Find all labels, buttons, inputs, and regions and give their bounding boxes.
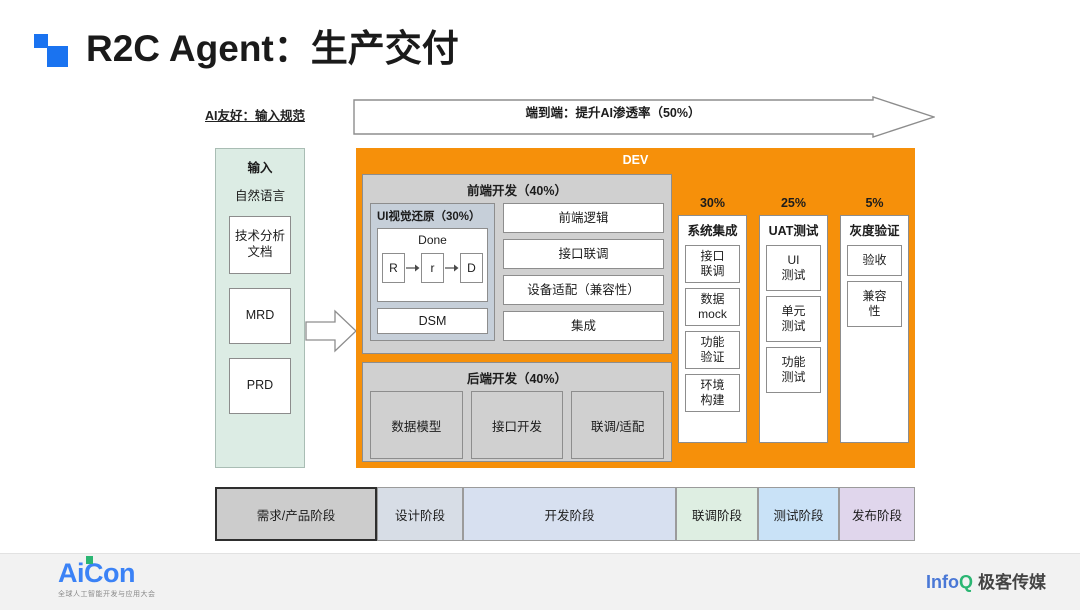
qa-percent: 30% [678,196,747,210]
frontend-item-integration[interactable]: 集成 [503,311,664,341]
right-arrow-icon [305,305,357,357]
dsm-box[interactable]: DSM [377,308,488,334]
input-item-label: PRD [247,378,273,394]
phase-cell-design[interactable]: 设计阶段 [377,487,463,541]
aicon-logo: AiCon 全球人工智能开发与应用大会 [58,560,156,599]
chain-arrow-icon [444,263,460,273]
phase-bar: 需求/产品阶段 设计阶段 开发阶段 联调阶段 测试阶段 发布阶段 [215,487,915,541]
qa-card: 灰度验证 验收 兼容性 [840,215,909,443]
logo-square-large [47,46,68,67]
infoq-q-text: Q [959,572,973,592]
chain-arrow-icon [405,263,421,273]
input-subheading: 自然语言 [216,185,304,204]
qa-column-uat: 25% UAT测试 UI测试 单元测试 功能测试 [759,196,828,443]
frontend-title: 前端开发（40%） [363,175,671,203]
input-panel: 输入 自然语言 技术分析文档 MRD PRD [215,148,305,468]
qa-item-compatibility[interactable]: 兼容性 [847,281,902,327]
input-item-prd[interactable]: PRD [229,358,291,414]
dev-left-column: 前端开发（40%） UI视觉还原（30%） Done R [362,174,672,462]
qa-item-function-verify[interactable]: 功能验证 [685,331,740,369]
slide-header: R2C Agent：生产交付 [34,30,459,67]
two-blue-squares-icon [34,32,68,66]
dev-label: DEV [356,153,915,167]
banner-text: 端到端：提升AI渗透率（50%） [353,96,873,131]
input-heading: 输入 [216,157,304,176]
phase-cell-integration[interactable]: 联调阶段 [676,487,758,541]
ui-restore-subsection: UI视觉还原（30%） Done R [370,203,495,341]
slide-root: R2C Agent：生产交付 AI友好：输入规范 端到端：提升AI渗透率（50%… [0,0,1080,609]
infoq-media-text: 极客传媒 [978,573,1046,592]
frontend-section: 前端开发（40%） UI视觉还原（30%） Done R [362,174,672,354]
frontend-item-api-integration[interactable]: 接口联调 [503,239,664,269]
qa-item-api-integration[interactable]: 接口联调 [685,245,740,283]
qa-percent: 25% [759,196,828,210]
aicon-green-dot-icon [86,556,93,564]
rrd-chain: R r [378,253,487,283]
qa-card: 系统集成 接口联调 数据mock 功能验证 环境构建 [678,215,747,443]
backend-item-api-dev[interactable]: 接口开发 [471,391,564,459]
input-item-mrd[interactable]: MRD [229,288,291,344]
aicon-brand-text: AiCon [58,558,135,588]
qa-item-function-test[interactable]: 功能测试 [766,347,821,393]
qa-percent: 5% [840,196,909,210]
qa-item-acceptance[interactable]: 验收 [847,245,902,276]
aicon-subtitle: 全球人工智能开发与应用大会 [58,589,156,599]
input-item-label: 技术分析文档 [235,229,285,260]
qa-card-title: 灰度验证 [847,220,902,239]
backend-item-integration-adaptation[interactable]: 联调/适配 [571,391,664,459]
qa-item-unit-test[interactable]: 单元测试 [766,296,821,342]
phase-cell-release[interactable]: 发布阶段 [839,487,915,541]
dev-block: DEV 前端开发（40%） UI视觉还原（30%） Done R [356,148,915,468]
frontend-item-logic[interactable]: 前端逻辑 [503,203,664,233]
phase-cell-testing[interactable]: 测试阶段 [758,487,839,541]
chain-node-r: R [382,253,405,283]
done-box: Done R r [377,228,488,302]
backend-item-data-model[interactable]: 数据模型 [370,391,463,459]
infoq-info-text: Info [926,572,959,592]
qa-column-gray-release: 5% 灰度验证 验收 兼容性 [840,196,909,443]
page-title: R2C Agent：生产交付 [86,30,459,67]
qa-item-env-build[interactable]: 环境构建 [685,374,740,412]
qa-card: UAT测试 UI测试 单元测试 功能测试 [759,215,828,443]
input-item-tech-doc[interactable]: 技术分析文档 [229,216,291,274]
qa-item-data-mock[interactable]: 数据mock [685,288,740,326]
done-label: Done [378,233,487,247]
chain-node-d: D [460,253,483,283]
banner-left-label: AI友好：输入规范 [205,105,305,124]
footer-bar [0,553,1080,610]
logo-square-small [34,34,48,48]
frontend-item-list: 前端逻辑 接口联调 设备适配（兼容性） 集成 [503,203,664,341]
qa-card-title: 系统集成 [685,220,740,239]
infoq-logo: InfoQ极客传媒 [926,568,1046,593]
phase-cell-development[interactable]: 开发阶段 [463,487,676,541]
chain-node-r-lower: r [421,253,444,283]
qa-item-ui-test[interactable]: UI测试 [766,245,821,291]
qa-column-system-integration: 30% 系统集成 接口联调 数据mock 功能验证 环境构建 [678,196,747,443]
qa-card-title: UAT测试 [766,220,821,239]
qa-columns: 30% 系统集成 接口联调 数据mock 功能验证 环境构建 25% UAT测试… [678,196,910,443]
banner-row: AI友好：输入规范 端到端：提升AI渗透率（50%） [205,96,935,138]
aicon-wordmark: AiCon [58,560,135,587]
backend-section: 后端开发（40%） 数据模型 接口开发 联调/适配 [362,362,672,462]
input-item-label: MRD [246,308,274,324]
backend-title: 后端开发（40%） [363,363,671,391]
phase-cell-requirements[interactable]: 需求/产品阶段 [215,487,377,541]
frontend-item-device-adaptation[interactable]: 设备适配（兼容性） [503,275,664,305]
ui-restore-title: UI视觉还原（30%） [377,208,488,224]
